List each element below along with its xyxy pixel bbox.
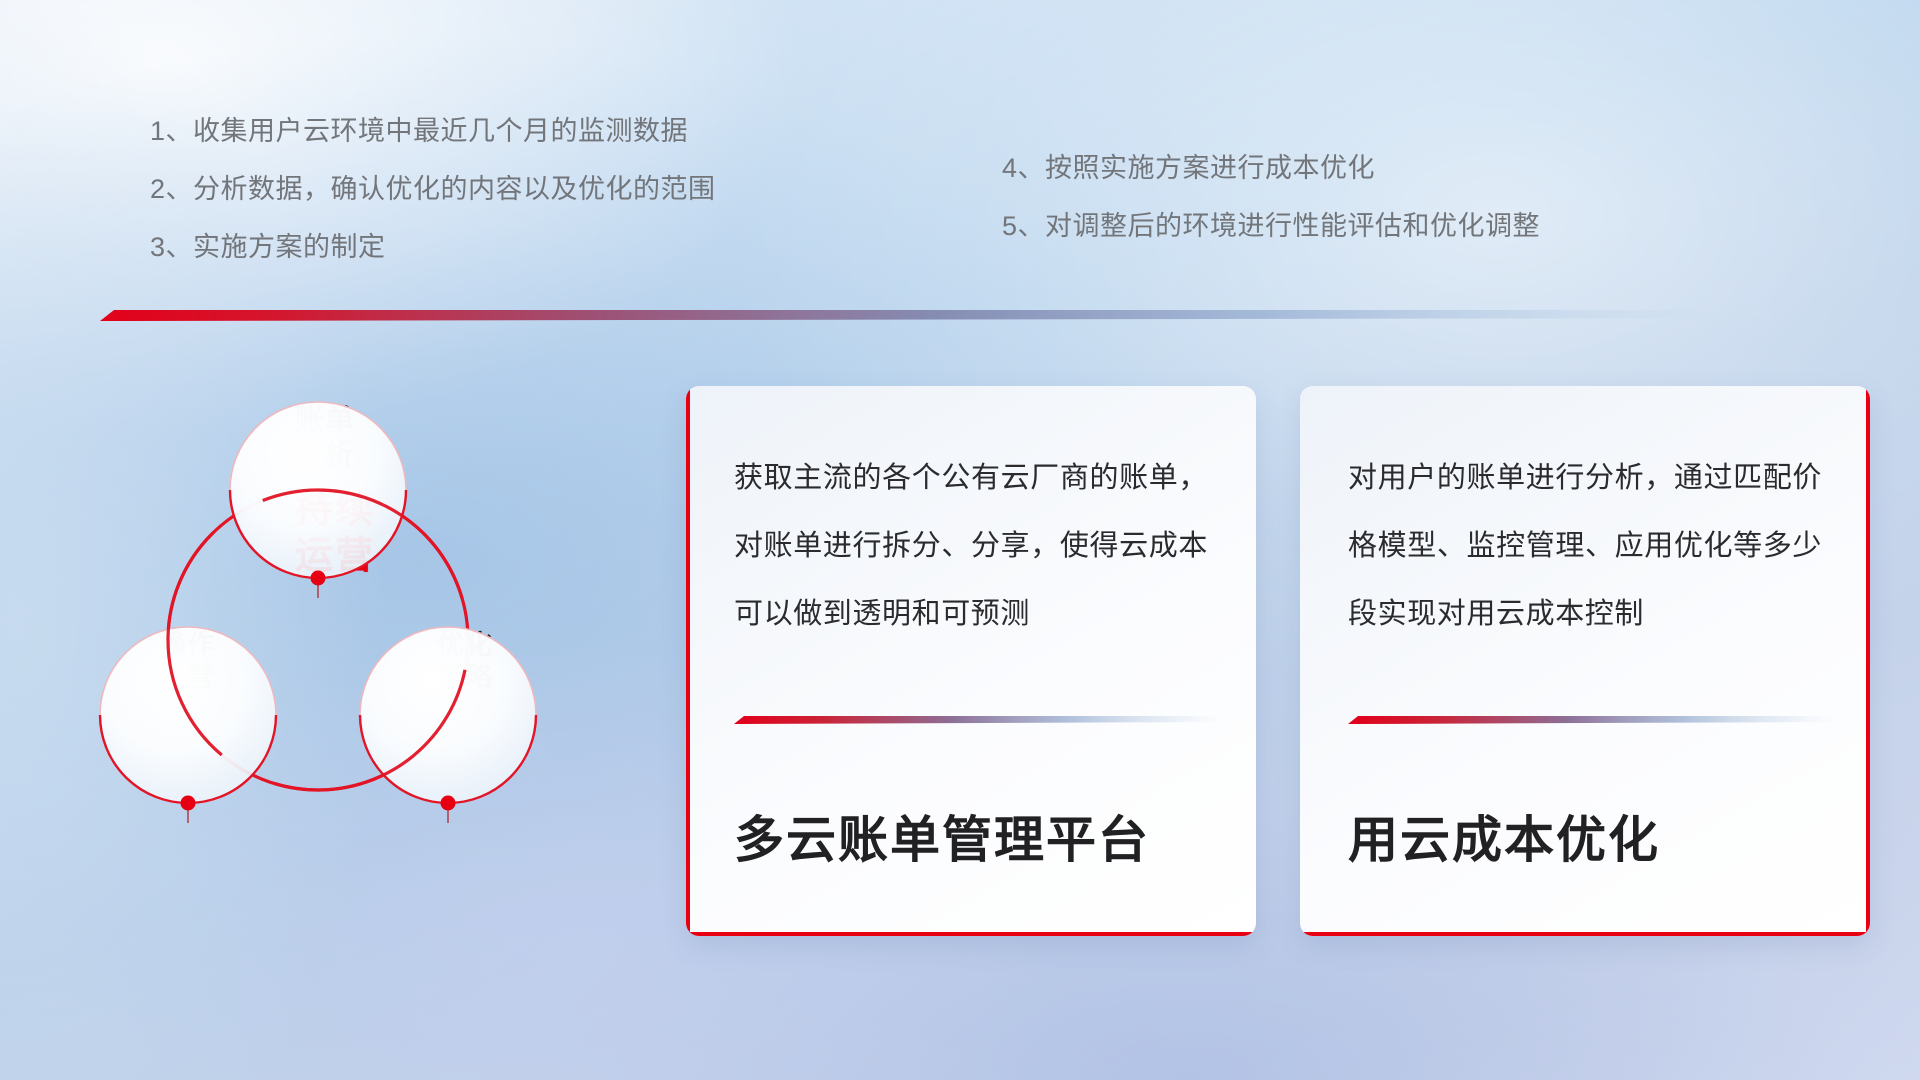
card-divider-rule <box>1348 716 1832 724</box>
node-dot-right <box>441 796 456 811</box>
card-body-text: 对用户的账单进行分析，通过匹配价格模型、监控管理、应用优化等多少段实现对用云成本… <box>1348 444 1822 648</box>
section-divider-rule <box>100 310 1772 321</box>
node-dot-left <box>181 796 196 811</box>
bullet-list-left: 1、收集用户云环境中最近几个月的监测数据 2、分析数据，确认优化的内容以及优化的… <box>150 118 716 261</box>
card-cloud-cost-optimization[interactable]: 对用户的账单进行分析，通过匹配价格模型、监控管理、应用优化等多少段实现对用云成本… <box>1300 386 1870 936</box>
bullet-item-3: 3、实施方案的制定 <box>150 234 716 261</box>
card-divider-rule <box>734 716 1218 724</box>
card-body-text: 获取主流的各个公有云厂商的账单，对账单进行拆分、分享，使得云成本可以做到透明和可… <box>734 444 1208 648</box>
card-multi-cloud-bill-platform[interactable]: 获取主流的各个公有云厂商的账单，对账单进行拆分、分享，使得云成本可以做到透明和可… <box>686 386 1256 936</box>
bullet-item-4: 4、按照实施方案进行成本优化 <box>1002 155 1540 182</box>
bullet-item-1: 1、收集用户云环境中最近几个月的监测数据 <box>150 118 716 145</box>
bullet-item-5: 5、对调整后的环境进行性能评估和优化调整 <box>1002 213 1540 240</box>
continuous-operations-diagram <box>80 350 660 970</box>
card-title: 多云账单管理平台 <box>734 800 1150 872</box>
bullet-list-right: 4、按照实施方案进行成本优化 5、对调整后的环境进行性能评估和优化调整 <box>1002 155 1540 240</box>
bullet-item-2: 2、分析数据，确认优化的内容以及优化的范围 <box>150 176 716 203</box>
node-dot-top <box>311 571 326 586</box>
card-title: 用云成本优化 <box>1348 800 1660 872</box>
